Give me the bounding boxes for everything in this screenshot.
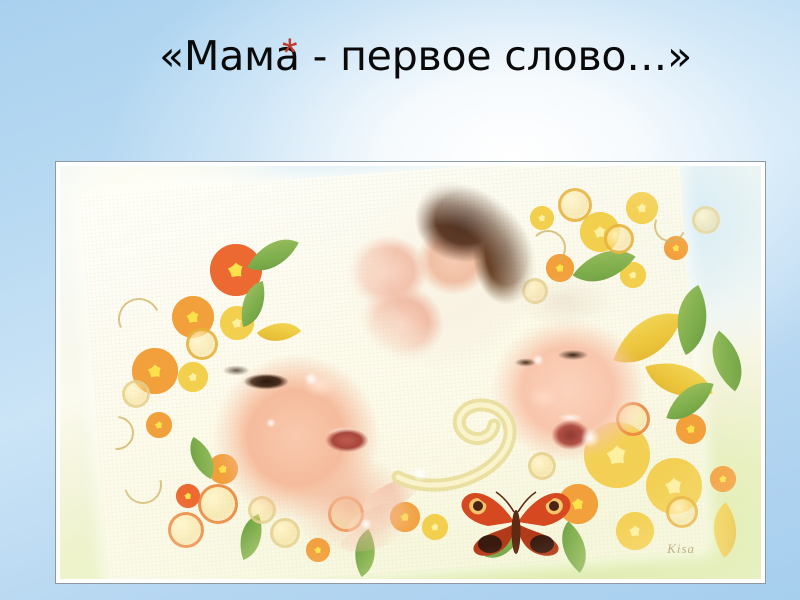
page-title: «Мама - первое слово…» bbox=[60, 28, 720, 85]
asterisk-bullet-icon: * bbox=[282, 36, 298, 70]
picture-canvas: Kisa bbox=[60, 166, 761, 579]
sparkle bbox=[360, 518, 372, 530]
sparkle bbox=[266, 418, 276, 428]
slide-title-block: * «Мама - первое слово…» bbox=[60, 28, 720, 154]
photo-laughing-baby bbox=[458, 270, 708, 520]
photo-mother-smiling-face bbox=[164, 292, 464, 572]
sparkle bbox=[580, 428, 600, 448]
presentation-slide: * «Мама - первое слово…» bbox=[0, 0, 800, 600]
sparkle bbox=[412, 466, 428, 482]
artist-signature: Kisa bbox=[667, 541, 695, 557]
sparkle bbox=[304, 372, 318, 386]
sparkle bbox=[532, 354, 544, 366]
picture-frame[interactable]: Kisa bbox=[55, 161, 766, 584]
